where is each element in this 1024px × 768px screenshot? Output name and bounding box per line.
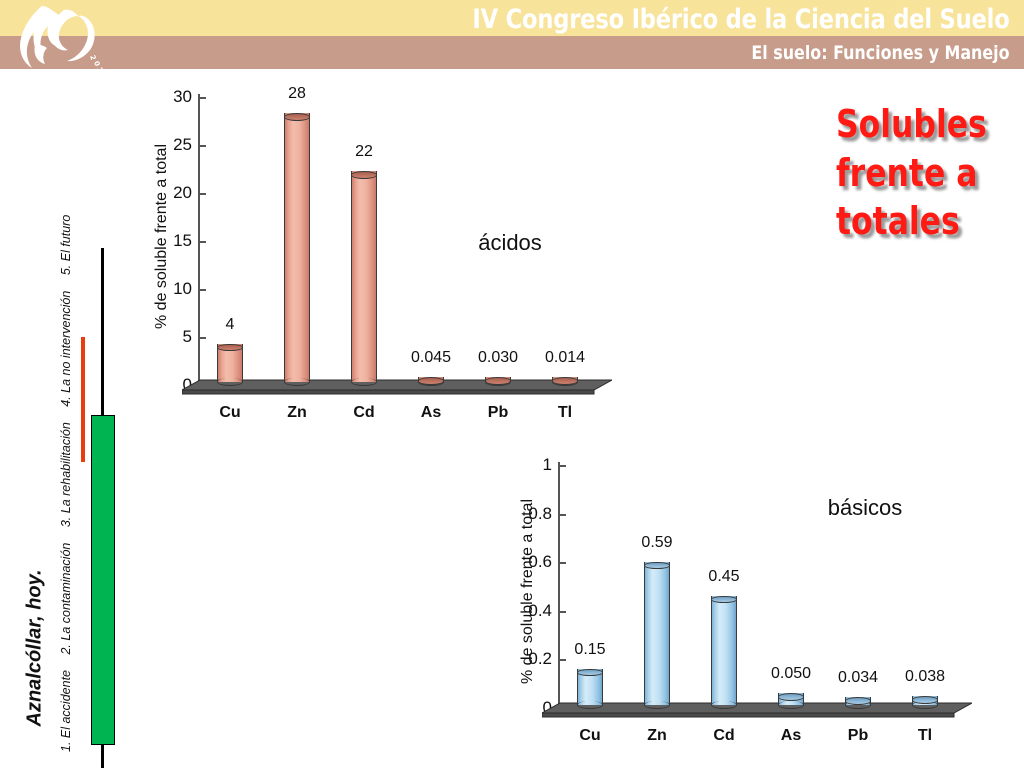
ytick-mark xyxy=(199,193,206,195)
ytick-mark xyxy=(559,465,566,467)
category-label-Tl: Tl xyxy=(885,727,965,745)
bar-Zn xyxy=(284,113,310,386)
bar-value-label: 0.038 xyxy=(885,668,965,686)
bar-Tl xyxy=(552,377,578,386)
slide-title-line-3: totales xyxy=(836,197,1011,246)
bar-value-label: 22 xyxy=(324,143,404,161)
svg-text:0: 0 xyxy=(98,72,107,79)
bar-base-ellipse xyxy=(778,701,804,709)
bar-top-ellipse xyxy=(778,693,804,701)
bar-base-ellipse xyxy=(711,701,737,709)
bar-value-label: 0.45 xyxy=(684,568,764,586)
bar-Cd xyxy=(711,596,737,709)
chart-acidos: % de soluble frente a total ácidos 05101… xyxy=(120,80,620,420)
chart-basicos-yaxis xyxy=(558,462,560,709)
page-title: IV Congreso Ibérico de la Ciencia del Su… xyxy=(473,4,1010,35)
bar-value-label: 4 xyxy=(190,316,270,334)
sidebar-item-rehabilitacion[interactable]: 3. La rehabilitación xyxy=(59,422,73,527)
sidebar-progress-green xyxy=(91,415,115,745)
bar-base-ellipse xyxy=(351,378,377,386)
ytick-label: 15 xyxy=(146,231,192,251)
bar-Pb xyxy=(845,697,871,709)
ytick-label: 0.2 xyxy=(506,649,552,669)
sidebar-item-no-intervencion[interactable]: 4. La no intervención xyxy=(59,291,73,407)
bar-top-ellipse xyxy=(912,696,938,704)
bar-Tl xyxy=(912,696,938,709)
bar-value-label: 0.59 xyxy=(617,534,697,552)
ytick-mark xyxy=(199,337,206,339)
ytick-mark xyxy=(199,289,206,291)
bar-base-ellipse xyxy=(577,701,603,709)
chart-basicos-annotation: básicos xyxy=(780,495,950,521)
sidebar-item-accidente[interactable]: 1. El accidente xyxy=(59,670,73,752)
slide-title-line-2: frente a xyxy=(836,149,1011,198)
sidebar-item-contaminacion[interactable]: 2. La contaminación xyxy=(59,543,73,655)
ytick-label: 0.6 xyxy=(506,552,552,572)
bar-top-ellipse xyxy=(284,113,310,121)
bar-Pb xyxy=(485,377,511,386)
bar-value-label: 0.15 xyxy=(550,641,630,659)
bar-Cd xyxy=(351,171,377,386)
ytick-label: 0.8 xyxy=(506,504,552,524)
bar-body xyxy=(351,171,377,382)
chart-acidos-floor xyxy=(182,376,612,398)
ytick-label: 10 xyxy=(146,279,192,299)
bar-base-ellipse xyxy=(217,378,243,386)
slide-title-line-1: Solubles xyxy=(836,100,1011,149)
ytick-label: 20 xyxy=(146,183,192,203)
sidebar-rail-red xyxy=(81,337,85,462)
ytick-mark xyxy=(199,145,206,147)
ytick-mark xyxy=(559,611,566,613)
bar-value-label: 0.014 xyxy=(525,349,605,367)
ytick-mark xyxy=(559,659,566,661)
ytick-mark xyxy=(199,241,206,243)
bar-body xyxy=(711,596,737,705)
sidebar-section-title: Aznalcóllar, hoy. xyxy=(24,497,47,727)
bar-top-ellipse xyxy=(351,171,377,179)
ytick-mark xyxy=(559,562,566,564)
sidebar-item-futuro[interactable]: 5. El futuro xyxy=(59,215,73,275)
ytick-mark xyxy=(199,97,206,99)
page-subtitle: El suelo: Funciones y Manejo xyxy=(752,42,1010,64)
chart-acidos-annotation: ácidos xyxy=(430,230,590,256)
ytick-label: 30 xyxy=(146,87,192,107)
bar-Cu xyxy=(217,344,243,386)
bar-base-ellipse xyxy=(644,701,670,709)
ytick-mark xyxy=(559,514,566,516)
chart-basicos: % de soluble frente a total básicos 00.2… xyxy=(480,450,980,750)
category-label-Tl: Tl xyxy=(525,404,605,422)
sidebar-step-list: 1. El accidente 2. La contaminación 3. L… xyxy=(59,52,73,752)
bar-As xyxy=(418,377,444,386)
ytick-label: 0.4 xyxy=(506,601,552,621)
ytick-label: 1 xyxy=(506,455,552,475)
chart-acidos-yaxis xyxy=(198,94,200,386)
bar-body xyxy=(284,113,310,382)
bar-top-ellipse xyxy=(485,377,511,385)
bar-top-ellipse xyxy=(418,377,444,385)
chart-basicos-floor xyxy=(542,699,972,721)
bar-base-ellipse xyxy=(284,378,310,386)
slide-title: Solubles frente a totales xyxy=(836,100,1011,246)
bar-As xyxy=(778,693,804,709)
bar-top-ellipse xyxy=(552,377,578,385)
bar-Cu xyxy=(577,669,603,709)
ytick-label: 5 xyxy=(146,327,192,347)
bar-Zn xyxy=(644,562,670,709)
ytick-label: 25 xyxy=(146,135,192,155)
bar-top-ellipse xyxy=(845,697,871,705)
bar-body xyxy=(644,562,670,705)
bar-value-label: 28 xyxy=(257,85,337,103)
